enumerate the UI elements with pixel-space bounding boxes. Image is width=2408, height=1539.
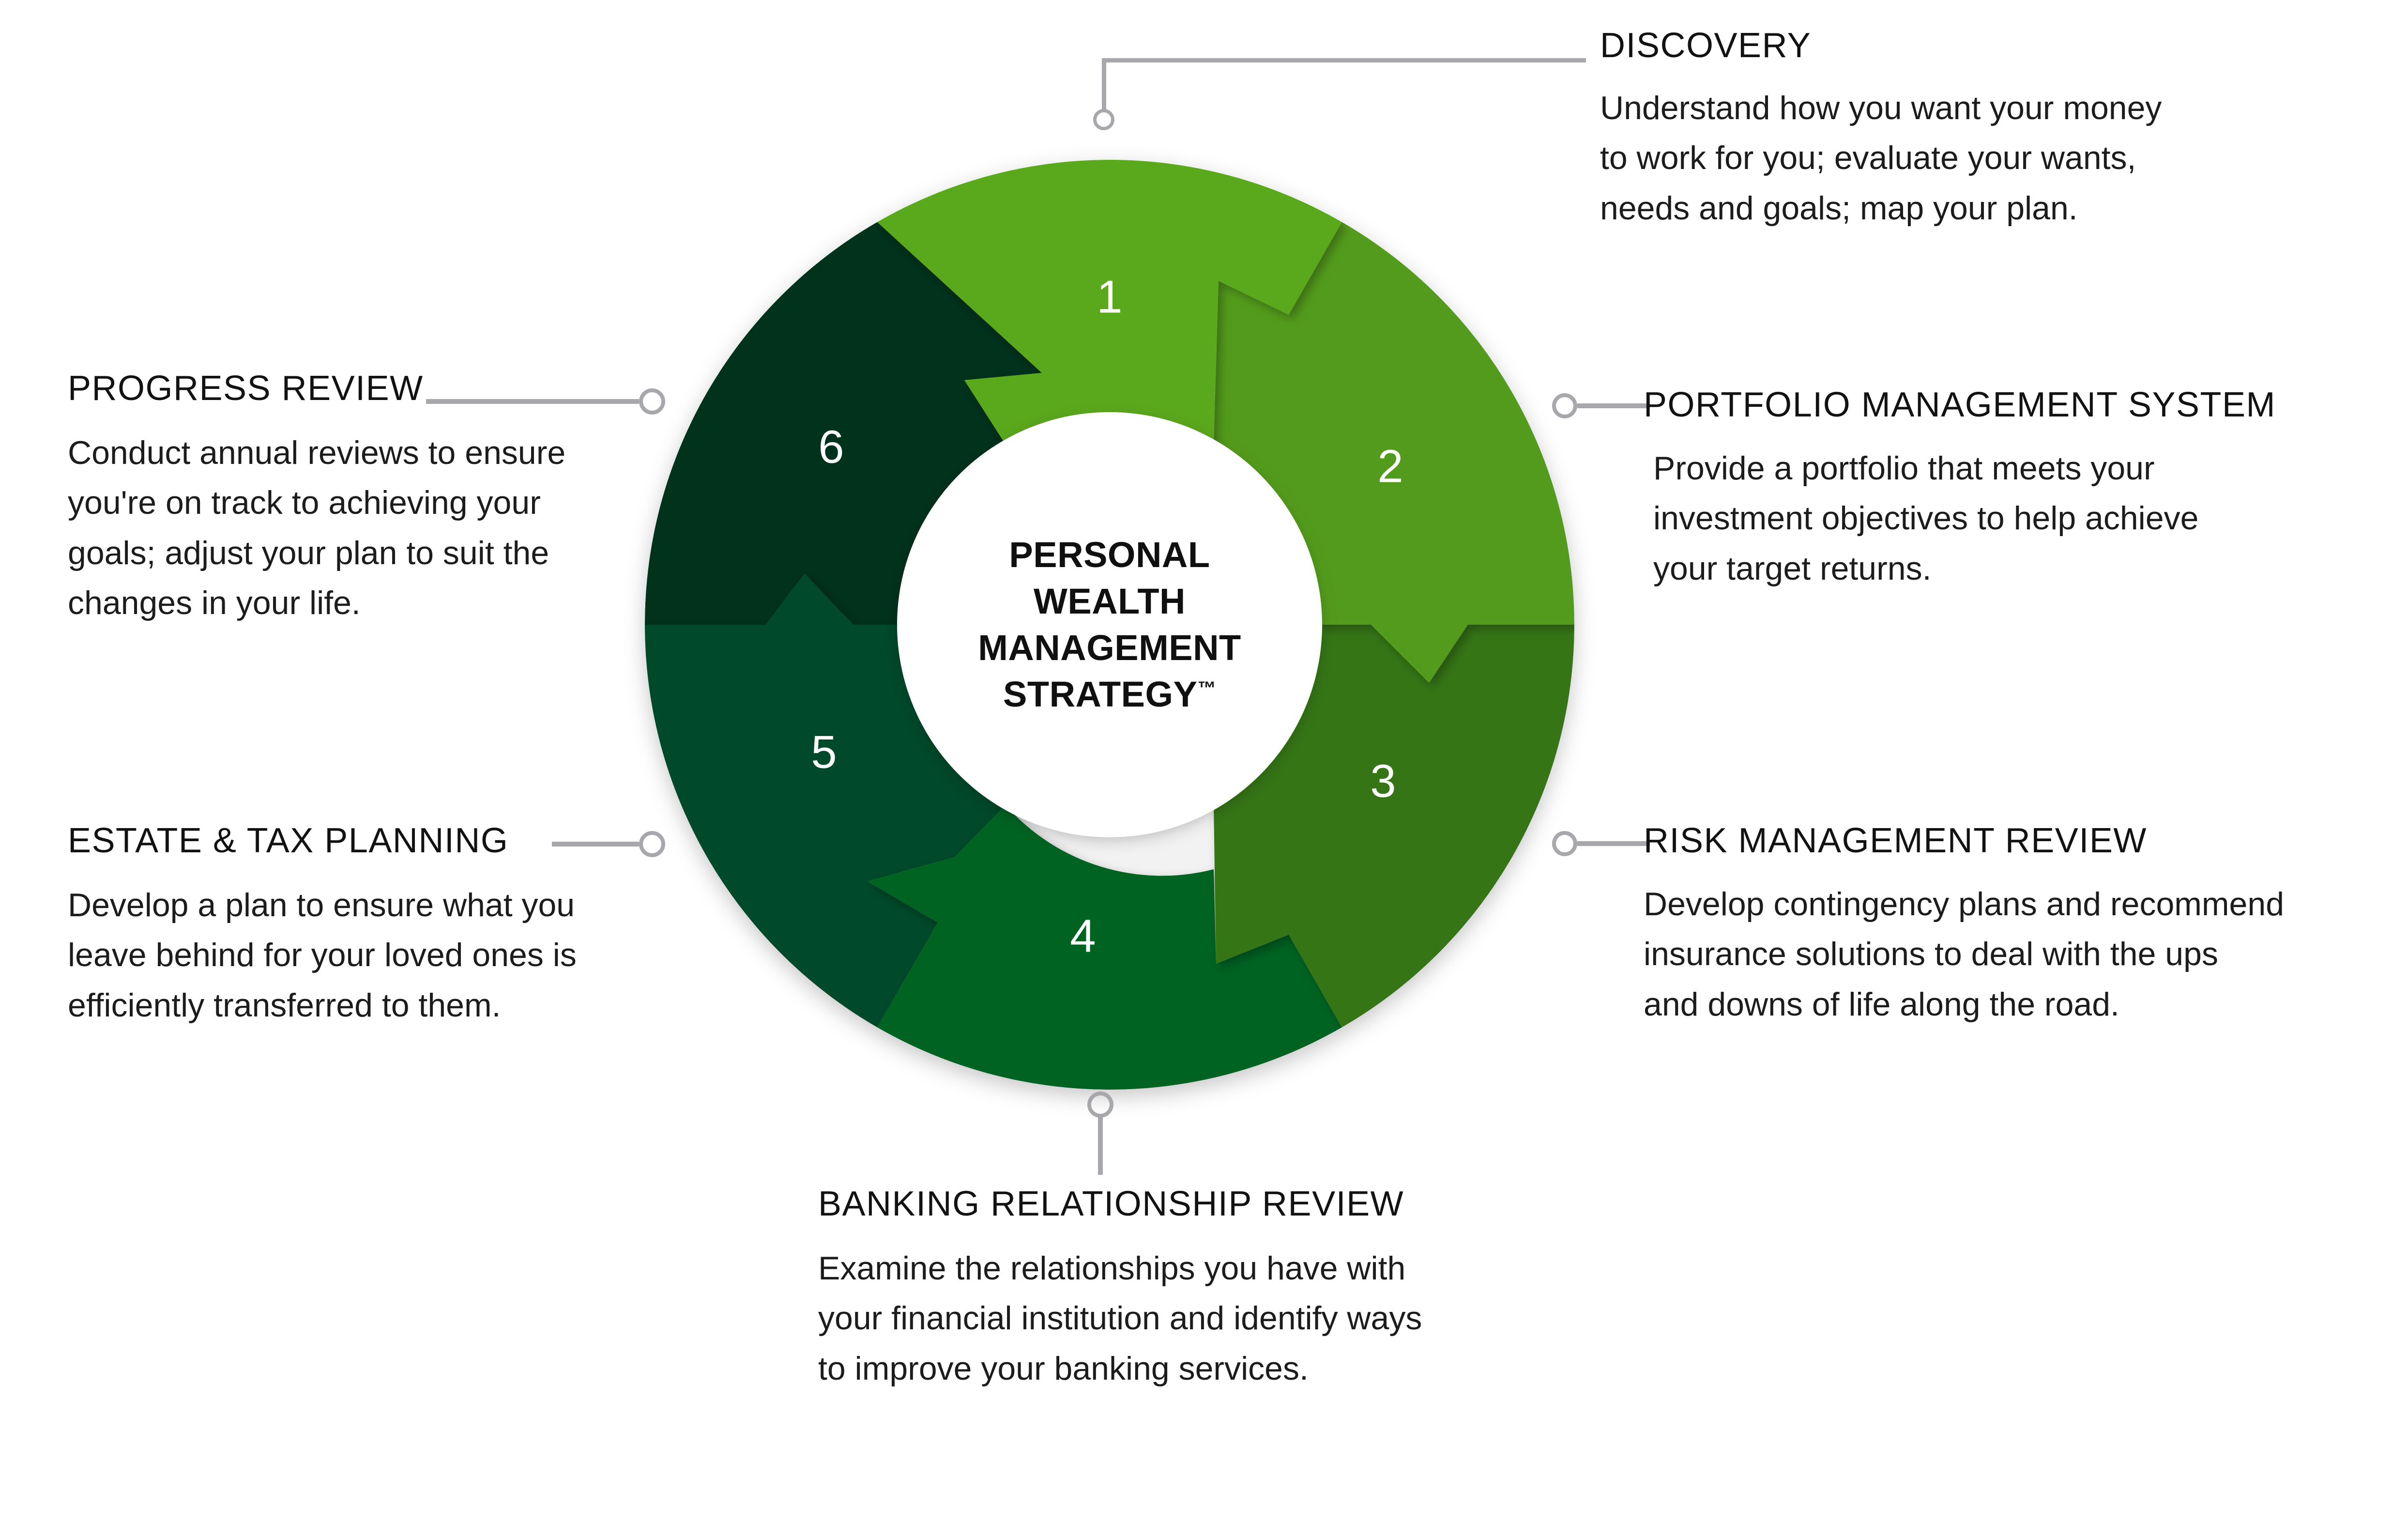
- connector-portfolio: [1552, 393, 1650, 418]
- infographic-canvas: 1 2 3 4 5 6 PERSONALWEALTHMANAGEMENTSTRA…: [0, 0, 2408, 1539]
- callout-title-progress: PROGRESS REVIEW: [68, 371, 668, 406]
- callout-line: your financial institution and identify …: [818, 1293, 1520, 1343]
- connector-dot-icon: [1087, 1092, 1113, 1118]
- segment-number-6: 6: [818, 421, 844, 473]
- callout-title-risk: RISK MANAGEMENT REVIEW: [1644, 823, 2399, 858]
- connector-line-vertical: [1102, 58, 1106, 111]
- callout-line: Develop contingency plans and recommend: [1644, 879, 2399, 929]
- callout-title-portfolio: PORTFOLIO MANAGEMENT SYSTEM: [1644, 387, 2399, 422]
- callout-line: to work for you; evaluate your wants,: [1600, 133, 2326, 183]
- callout-line: insurance solutions to deal with the ups: [1644, 929, 2399, 979]
- center-hub: PERSONALWEALTHMANAGEMENTSTRATEGY™: [897, 412, 1322, 837]
- connector-risk: [1552, 831, 1650, 856]
- connector-line-vertical: [1098, 1116, 1103, 1175]
- segment-number-5: 5: [811, 726, 837, 778]
- callout-body-estate: Develop a plan to ensure what you leave …: [68, 880, 668, 1031]
- callout-line: Provide a portfolio that meets your: [1653, 444, 2399, 493]
- callout-line: to improve your banking services.: [818, 1344, 1520, 1394]
- callout-body-banking: Examine the relationships you have with …: [818, 1244, 1520, 1394]
- callout-line: Develop a plan to ensure what you: [68, 880, 668, 930]
- segment-number-1: 1: [1097, 271, 1122, 323]
- segment-number-4: 4: [1070, 910, 1096, 962]
- callout-estate: ESTATE & TAX PLANNING Develop a plan to …: [68, 823, 668, 1031]
- callout-line: goals; adjust your plan to suit the: [68, 528, 668, 578]
- trademark-symbol: ™: [1197, 678, 1216, 699]
- callout-body-risk: Develop contingency plans and recommend …: [1644, 879, 2399, 1030]
- callout-line: investment objectives to help achieve: [1653, 493, 2399, 543]
- connector-dot-icon: [1552, 831, 1577, 856]
- segment-number-3: 3: [1370, 755, 1396, 807]
- callout-body-portfolio: Provide a portfolio that meets your inve…: [1653, 444, 2399, 594]
- callout-title-estate: ESTATE & TAX PLANNING: [68, 823, 668, 858]
- connector-dot-icon: [1093, 109, 1114, 130]
- callout-progress: PROGRESS REVIEW Conduct annual reviews t…: [68, 371, 668, 628]
- connector-line-horizontal: [1577, 403, 1650, 408]
- callout-portfolio: PORTFOLIO MANAGEMENT SYSTEM Provide a po…: [1644, 387, 2399, 594]
- callout-line: leave behind for your loved ones is: [68, 930, 668, 980]
- callout-line: and downs of life along the road.: [1644, 980, 2399, 1030]
- callout-title-discovery: DISCOVERY: [1600, 28, 2326, 63]
- callout-line: Conduct annual reviews to ensure: [68, 428, 668, 478]
- callout-risk: RISK MANAGEMENT REVIEW Develop contingen…: [1644, 823, 2399, 1030]
- center-hub-text: PERSONALWEALTHMANAGEMENTSTRATEGY™: [978, 532, 1241, 718]
- callout-line: efficiently transferred to them.: [68, 981, 668, 1031]
- callout-line: your target returns.: [1653, 544, 2399, 594]
- callout-banking: BANKING RELATIONSHIP REVIEW Examine the …: [818, 1186, 1520, 1394]
- connector-dot-icon: [1552, 393, 1577, 418]
- callout-line: Examine the relationships you have with: [818, 1244, 1520, 1293]
- callout-body-discovery: Understand how you want your money to wo…: [1600, 83, 2326, 233]
- callout-line: changes in your life.: [68, 578, 668, 628]
- connector-line-horizontal: [1577, 841, 1650, 846]
- callout-line: needs and goals; map your plan.: [1600, 184, 2326, 233]
- segment-number-2: 2: [1377, 440, 1403, 492]
- callout-body-progress: Conduct annual reviews to ensure you're …: [68, 428, 668, 628]
- connector-line-horizontal: [1102, 58, 1586, 62]
- callout-line: Understand how you want your money: [1600, 83, 2326, 133]
- callout-title-banking: BANKING RELATIONSHIP REVIEW: [818, 1186, 1520, 1221]
- callout-line: you're on track to achieving your: [68, 478, 668, 528]
- callout-discovery: DISCOVERY Understand how you want your m…: [1600, 28, 2326, 233]
